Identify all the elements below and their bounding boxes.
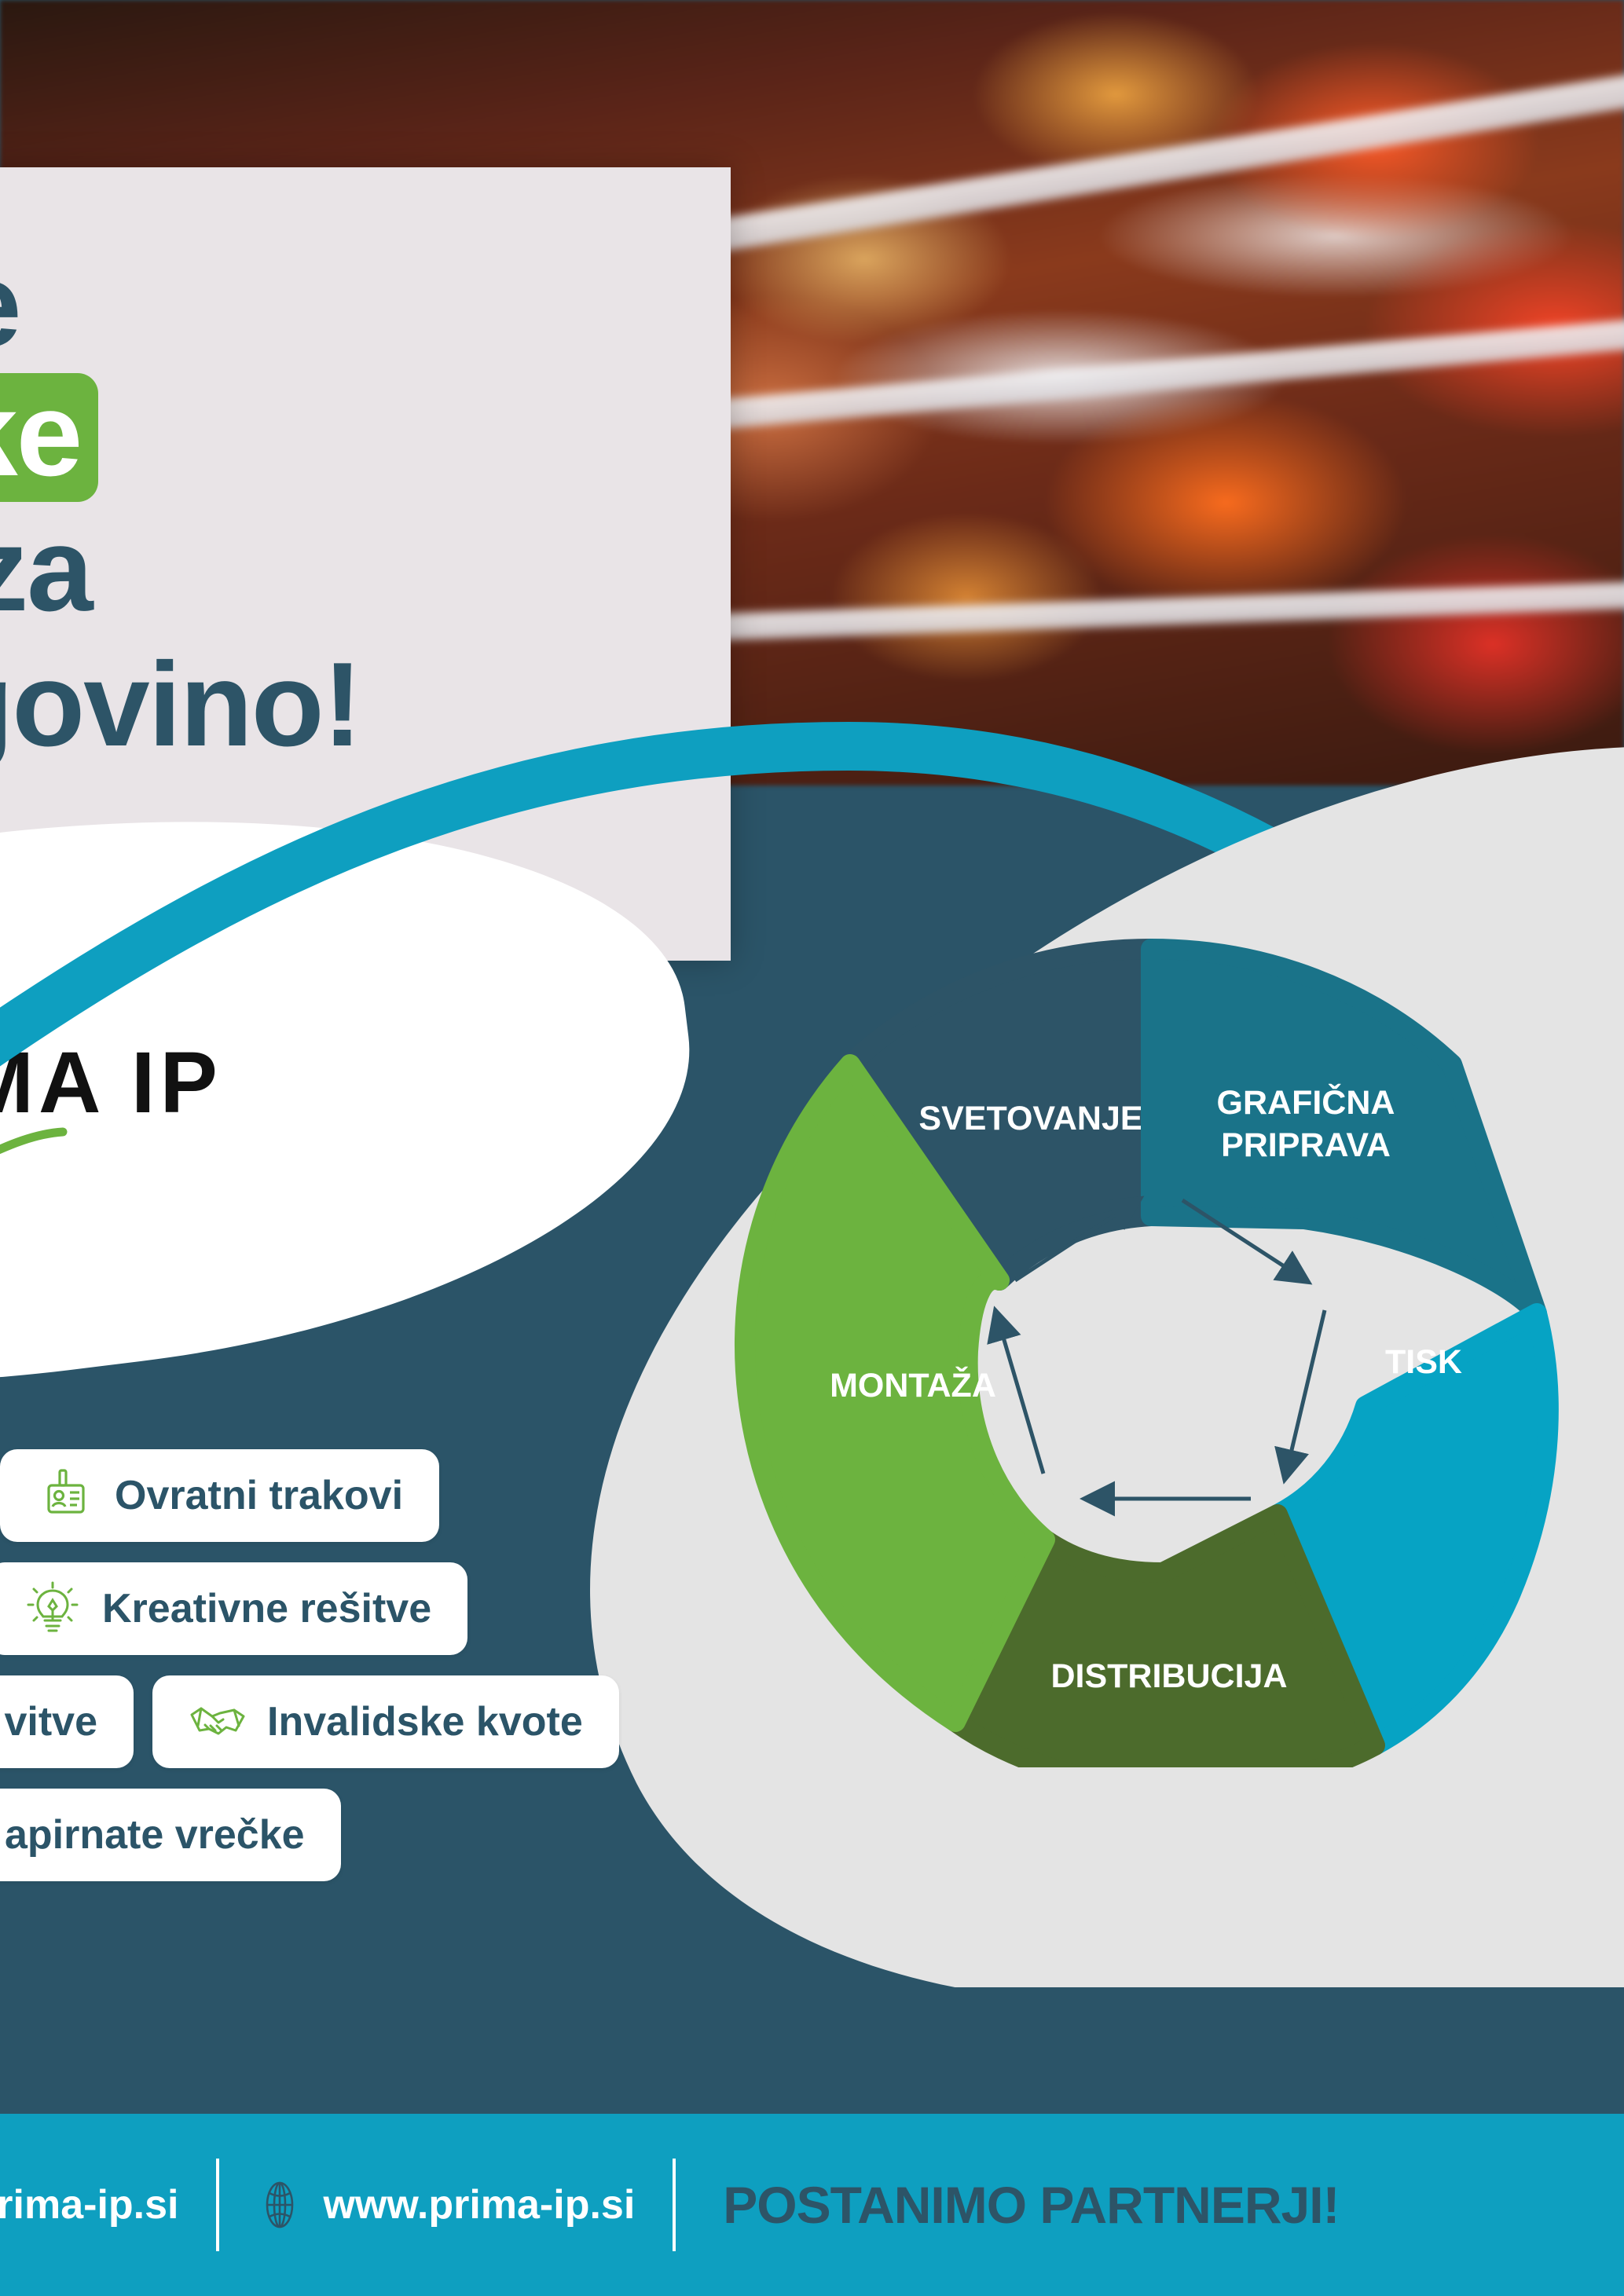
feature-pill-list: Ovratni trakovi — [0, 1449, 762, 1902]
arrow-graficna-to-tisk — [1285, 1310, 1325, 1477]
headline-line-4-text: vašo trgovino! — [0, 638, 361, 771]
headline-line-3: rešitveza — [0, 508, 739, 637]
wheel-label-graficna-priprava-line1: GRAFIČNA — [1217, 1083, 1395, 1122]
pill-label: Ovratni trakovi — [115, 1472, 403, 1519]
footer-website-text: www.prima-ip.si — [323, 2181, 635, 2228]
process-wheel-diagram: SVETOVANJE GRAFIČNA PRIPRAVA TISK DISTRI… — [723, 911, 1579, 1767]
pill-row-1: Ovratni trakovi — [0, 1449, 762, 1542]
headline-line-2: tiskarske — [0, 373, 739, 502]
headline: Popolne tiskarske rešitveza vašo trgovin… — [0, 244, 739, 772]
pill-row-2: Kreativne rešitve — [0, 1562, 762, 1655]
shelf-edge-2 — [708, 315, 1624, 430]
wheel-label-tisk: TISK — [1385, 1343, 1462, 1381]
pill-label: Kreativne rešitve — [102, 1585, 431, 1632]
footer-website[interactable]: www.prima-ip.si — [219, 2176, 673, 2234]
pill-label: vitve — [4, 1698, 97, 1745]
footer-email[interactable]: odaja@prima-ip.si — [0, 2181, 216, 2228]
headline-line-1: Popolne — [0, 244, 739, 367]
green-swoosh-icon — [0, 1126, 69, 1201]
footer-slogan: POSTANIMO PARTNERJI! — [676, 2175, 1339, 2235]
wheel-label-svetovanje: SVETOVANJE — [918, 1100, 1142, 1137]
footer-bar: odaja@prima-ip.si www.prima-ip.si POSTAN… — [0, 2114, 1624, 2296]
wheel-label-graficna-priprava-line2: PRIPRAVA — [1221, 1126, 1391, 1164]
pill-label: Invalidske kvote — [267, 1698, 583, 1745]
pill-papirnate-vrecke[interactable]: apirnate vrečke — [0, 1789, 341, 1881]
pill-row-4: apirnate vrečke — [0, 1789, 762, 1881]
lightbulb-pen-icon — [24, 1580, 82, 1638]
headline-line-3-tail: za — [0, 503, 92, 636]
handshake-icon — [189, 1693, 247, 1751]
pill-ovratni-trakovi[interactable]: Ovratni trakovi — [0, 1449, 439, 1542]
arrow-distribucija-to-montaza — [996, 1313, 1043, 1474]
headline-highlight-tiskarske: tiskarske — [0, 373, 98, 502]
pill-invalidske-kvote[interactable]: Invalidske kvote — [152, 1675, 619, 1768]
logo: PRIMA IP — [0, 1033, 244, 1214]
wheel-label-montaza: MONTAŽA — [830, 1366, 996, 1404]
id-badge-icon — [36, 1467, 94, 1525]
pill-kreativne-resitve[interactable]: Kreativne rešitve — [0, 1562, 467, 1655]
wheel-segment-graficna-priprava[interactable]: GRAFIČNA PRIPRAVA — [1151, 949, 1537, 1313]
footer-email-text: odaja@prima-ip.si — [0, 2181, 178, 2228]
pill-label: apirnate vrečke — [5, 1811, 305, 1858]
logo-wordmark: PRIMA IP — [0, 1033, 222, 1133]
shelf-edge-3 — [707, 580, 1624, 641]
headline-line-1-text: Popolne — [0, 238, 20, 372]
pill-row-3: vitve Invalidske kvote — [0, 1675, 762, 1768]
pill-truncated-b[interactable]: vitve — [0, 1675, 134, 1768]
shelf-edge-1 — [695, 68, 1624, 255]
wheel-label-distribucija: DISTRIBUCIJA — [1050, 1657, 1287, 1695]
globe-icon — [257, 2176, 302, 2234]
